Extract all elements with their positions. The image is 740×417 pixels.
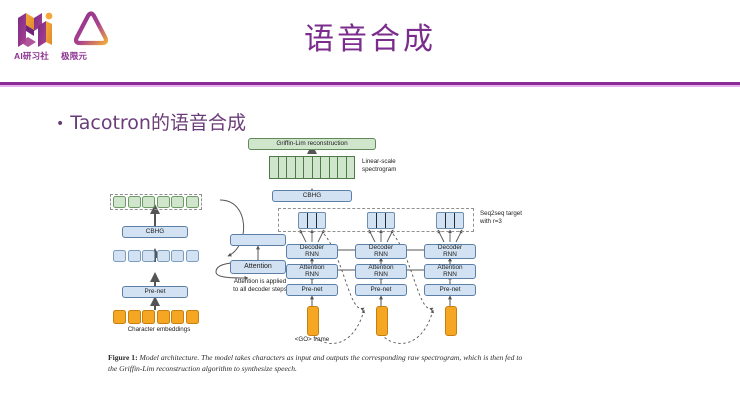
encoder-hidden-cells xyxy=(113,250,199,262)
model-architecture-diagram: Griffin-Lim reconstruction Linear-scale … xyxy=(100,138,530,350)
embedding-cell xyxy=(142,310,155,324)
header-divider-soft xyxy=(0,85,740,87)
label-character-embeddings: Character embeddings xyxy=(109,326,209,334)
encoder-output-cell xyxy=(171,196,184,208)
figure-caption-text: Model architecture. The model takes char… xyxy=(108,353,522,373)
target-frame xyxy=(446,213,455,228)
node-attention-rnn-step3: Attention RNN xyxy=(424,264,476,279)
node-decoder-prenet-step2: Pre-net xyxy=(355,284,407,296)
label-seq2seq-target: Seq2seq target with r=3 xyxy=(480,210,540,226)
encoder-hidden-cell xyxy=(142,250,155,262)
encoder-output-cell xyxy=(113,196,126,208)
target-frame xyxy=(299,213,308,228)
spectrogram-column xyxy=(286,157,295,178)
page-title: 语音合成 xyxy=(0,14,740,58)
encoder-hidden-cell xyxy=(113,250,126,262)
bullet-item: •Tacotron的语音合成 xyxy=(56,108,246,135)
spectrogram-column xyxy=(295,157,304,178)
node-decoder-rnn-step1: Decoder RNN xyxy=(286,244,338,259)
node-attention: Attention xyxy=(230,260,286,274)
encoder-output-cell xyxy=(142,196,155,208)
target-frame-triplet xyxy=(298,212,326,229)
target-frame xyxy=(455,213,463,228)
embedding-cell xyxy=(128,310,141,324)
encoder-output-cell xyxy=(186,196,199,208)
spectrogram-column xyxy=(303,157,312,178)
node-attention-context xyxy=(230,234,286,246)
node-encoder-prenet: Pre-net xyxy=(122,286,188,298)
encoder-hidden-cell xyxy=(157,250,170,262)
encoder-output-cell xyxy=(128,196,141,208)
encoder-hidden-cell xyxy=(171,250,184,262)
node-griffin-lim: Griffin-Lim reconstruction xyxy=(248,138,376,150)
node-encoder-cbhg: CBHG xyxy=(122,226,188,238)
bullet-marker: • xyxy=(56,116,64,132)
figure-container: Griffin-Lim reconstruction Linear-scale … xyxy=(100,138,530,386)
spectrogram-column xyxy=(329,157,338,178)
character-embedding-cells xyxy=(113,310,199,324)
node-attention-rnn-step2: Attention RNN xyxy=(355,264,407,279)
node-decoder-rnn-step2: Decoder RNN xyxy=(355,244,407,259)
input-frame-step1 xyxy=(307,306,319,336)
linear-spectrogram-strip xyxy=(269,156,355,179)
input-frame-step3 xyxy=(445,306,457,336)
node-decoder-prenet-step1: Pre-net xyxy=(286,284,338,296)
bullet-label: Tacotron的语音合成 xyxy=(70,112,246,134)
target-frame xyxy=(386,213,394,228)
embedding-cell xyxy=(186,310,199,324)
slide-root: AI研习社 极限元 语音合成 •Tacotron的语音合成 xyxy=(0,0,740,417)
target-frame xyxy=(308,213,317,228)
spectrogram-column xyxy=(278,157,287,178)
target-frame-triplet xyxy=(436,212,464,229)
encoder-hidden-cell xyxy=(128,250,141,262)
target-frame xyxy=(437,213,446,228)
encoder-output-cells xyxy=(113,196,199,208)
embedding-cell xyxy=(171,310,184,324)
encoder-output-cell xyxy=(157,196,170,208)
target-frame xyxy=(368,213,377,228)
spectrogram-column xyxy=(270,157,278,178)
figure-caption: Figure 1: Model architecture. The model … xyxy=(108,352,528,375)
label-go-frame: <GO> frame xyxy=(284,336,340,344)
label-linear-spectrogram: Linear-scale spectrogram xyxy=(362,158,432,174)
node-post-cbhg: CBHG xyxy=(272,190,352,202)
target-frame xyxy=(377,213,386,228)
embedding-cell xyxy=(113,310,126,324)
input-frame-step2 xyxy=(376,306,388,336)
slide-header: AI研习社 极限元 语音合成 xyxy=(0,0,740,85)
spectrogram-column xyxy=(337,157,346,178)
target-frame-triplet xyxy=(367,212,395,229)
spectrogram-column xyxy=(312,157,321,178)
node-decoder-rnn-step3: Decoder RNN xyxy=(424,244,476,259)
target-frame xyxy=(317,213,325,228)
spectrogram-column xyxy=(320,157,329,178)
node-attention-rnn-step1: Attention RNN xyxy=(286,264,338,279)
spectrogram-column xyxy=(346,157,355,178)
figure-caption-label: Figure 1: xyxy=(108,353,138,362)
encoder-hidden-cell xyxy=(186,250,199,262)
node-decoder-prenet-step3: Pre-net xyxy=(424,284,476,296)
embedding-cell xyxy=(157,310,170,324)
